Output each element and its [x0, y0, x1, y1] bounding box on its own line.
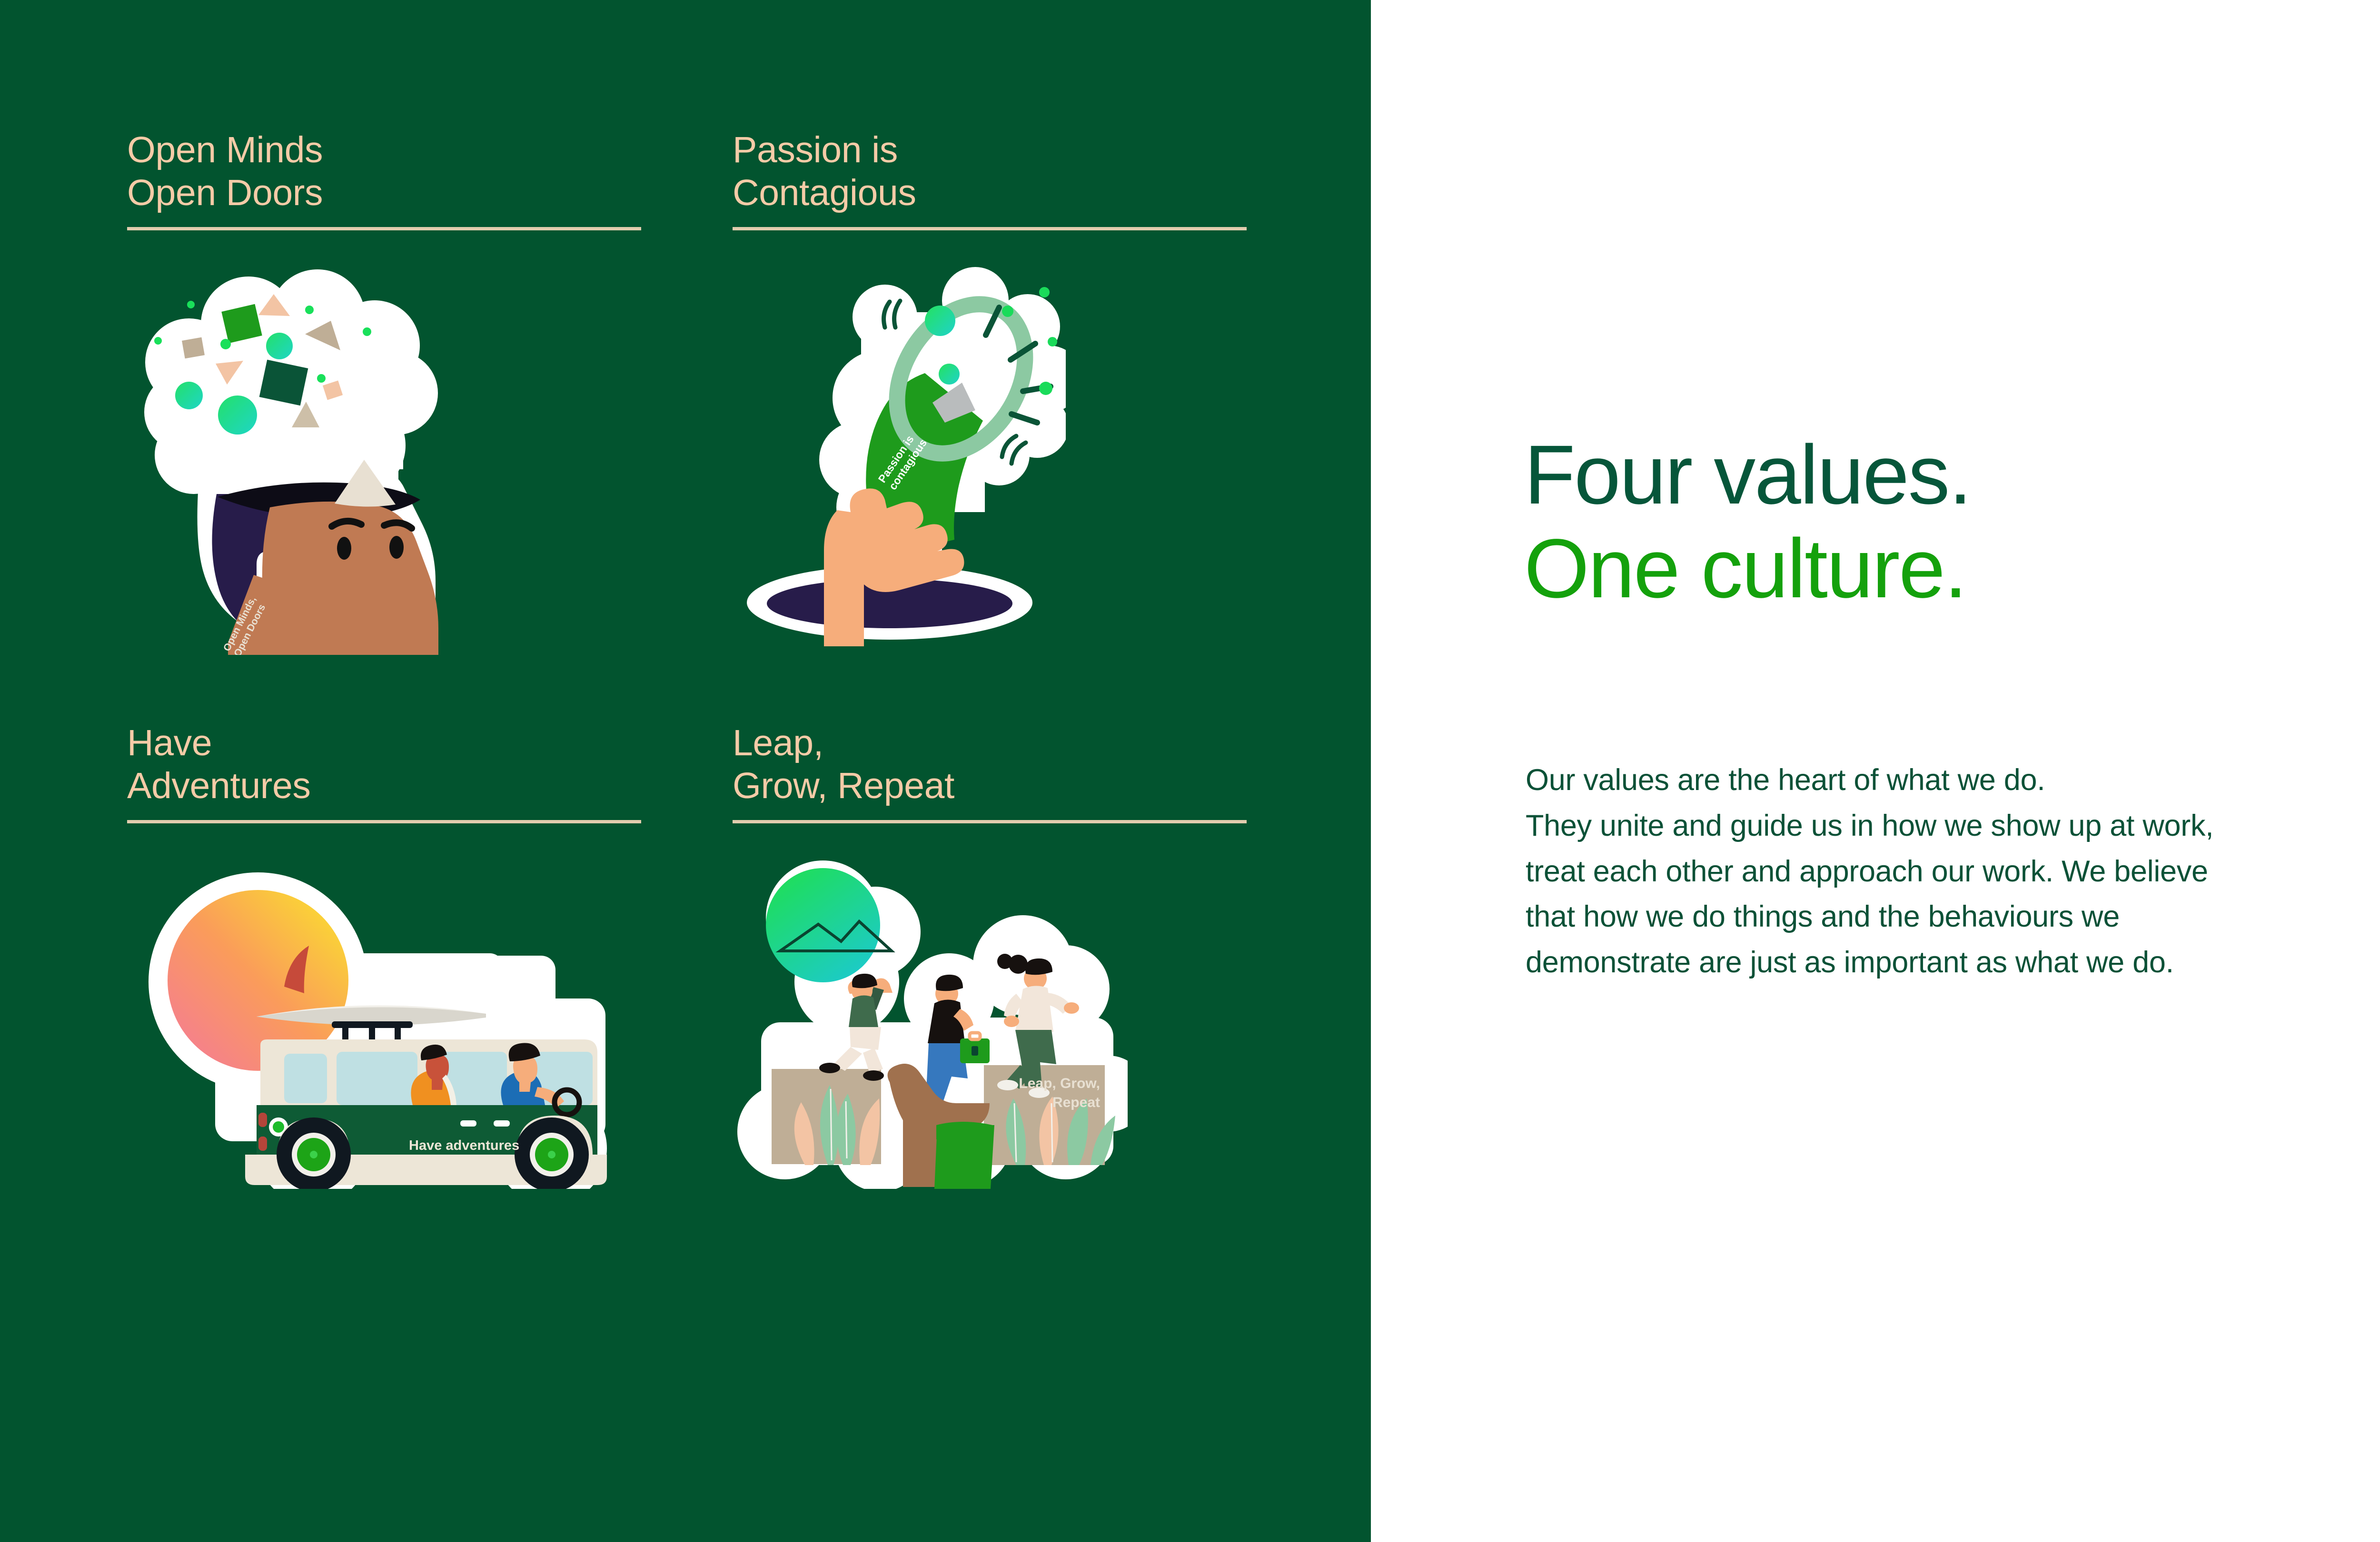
value-title: Passion is Contagious — [733, 128, 1247, 217]
page-title: Four values. One culture. — [1524, 428, 2380, 616]
values-grid: Open Minds Open Doors — [127, 128, 1246, 1189]
value-card-leap-grow-repeat: Leap, Grow, Repeat — [733, 722, 1247, 1189]
campervan-caption: Have adventures — [409, 1138, 519, 1153]
value-card-adventures: Have Adventures — [127, 722, 641, 1189]
headline-line-1: Four values. — [1524, 428, 2380, 522]
open-minds-sticker: Open Minds, Open Doors — [127, 260, 641, 655]
slide-root: Open Minds Open Doors — [0, 0, 2380, 1542]
leap-caption-line2: Repeat — [1052, 1095, 1100, 1110]
value-card-open-minds: Open Minds Open Doors — [127, 128, 641, 655]
value-divider — [127, 820, 641, 823]
value-title: Have Adventures — [127, 722, 641, 810]
values-panel: Open Minds Open Doors — [0, 0, 1371, 1542]
leap-caption-line1: Leap, Grow, — [1019, 1076, 1100, 1091]
value-divider — [733, 820, 1247, 823]
value-card-passion: Passion is Contagious — [733, 128, 1247, 655]
value-divider — [127, 227, 641, 230]
copy-panel: Four values. One culture. Our values are… — [1371, 0, 2380, 1542]
megaphone-sticker: Passion is contagious — [733, 260, 1247, 655]
body-paragraph: Our values are the heart of what we do. … — [1526, 758, 2380, 986]
headline-line-2: One culture. — [1524, 522, 2380, 616]
value-title: Open Minds Open Doors — [127, 128, 641, 217]
leap-grow-repeat-sticker: Leap, Grow, Repeat — [733, 856, 1247, 1189]
value-title: Leap, Grow, Repeat — [733, 722, 1247, 810]
campervan-sticker: Have adventures — [127, 856, 641, 1189]
value-divider — [733, 227, 1247, 230]
